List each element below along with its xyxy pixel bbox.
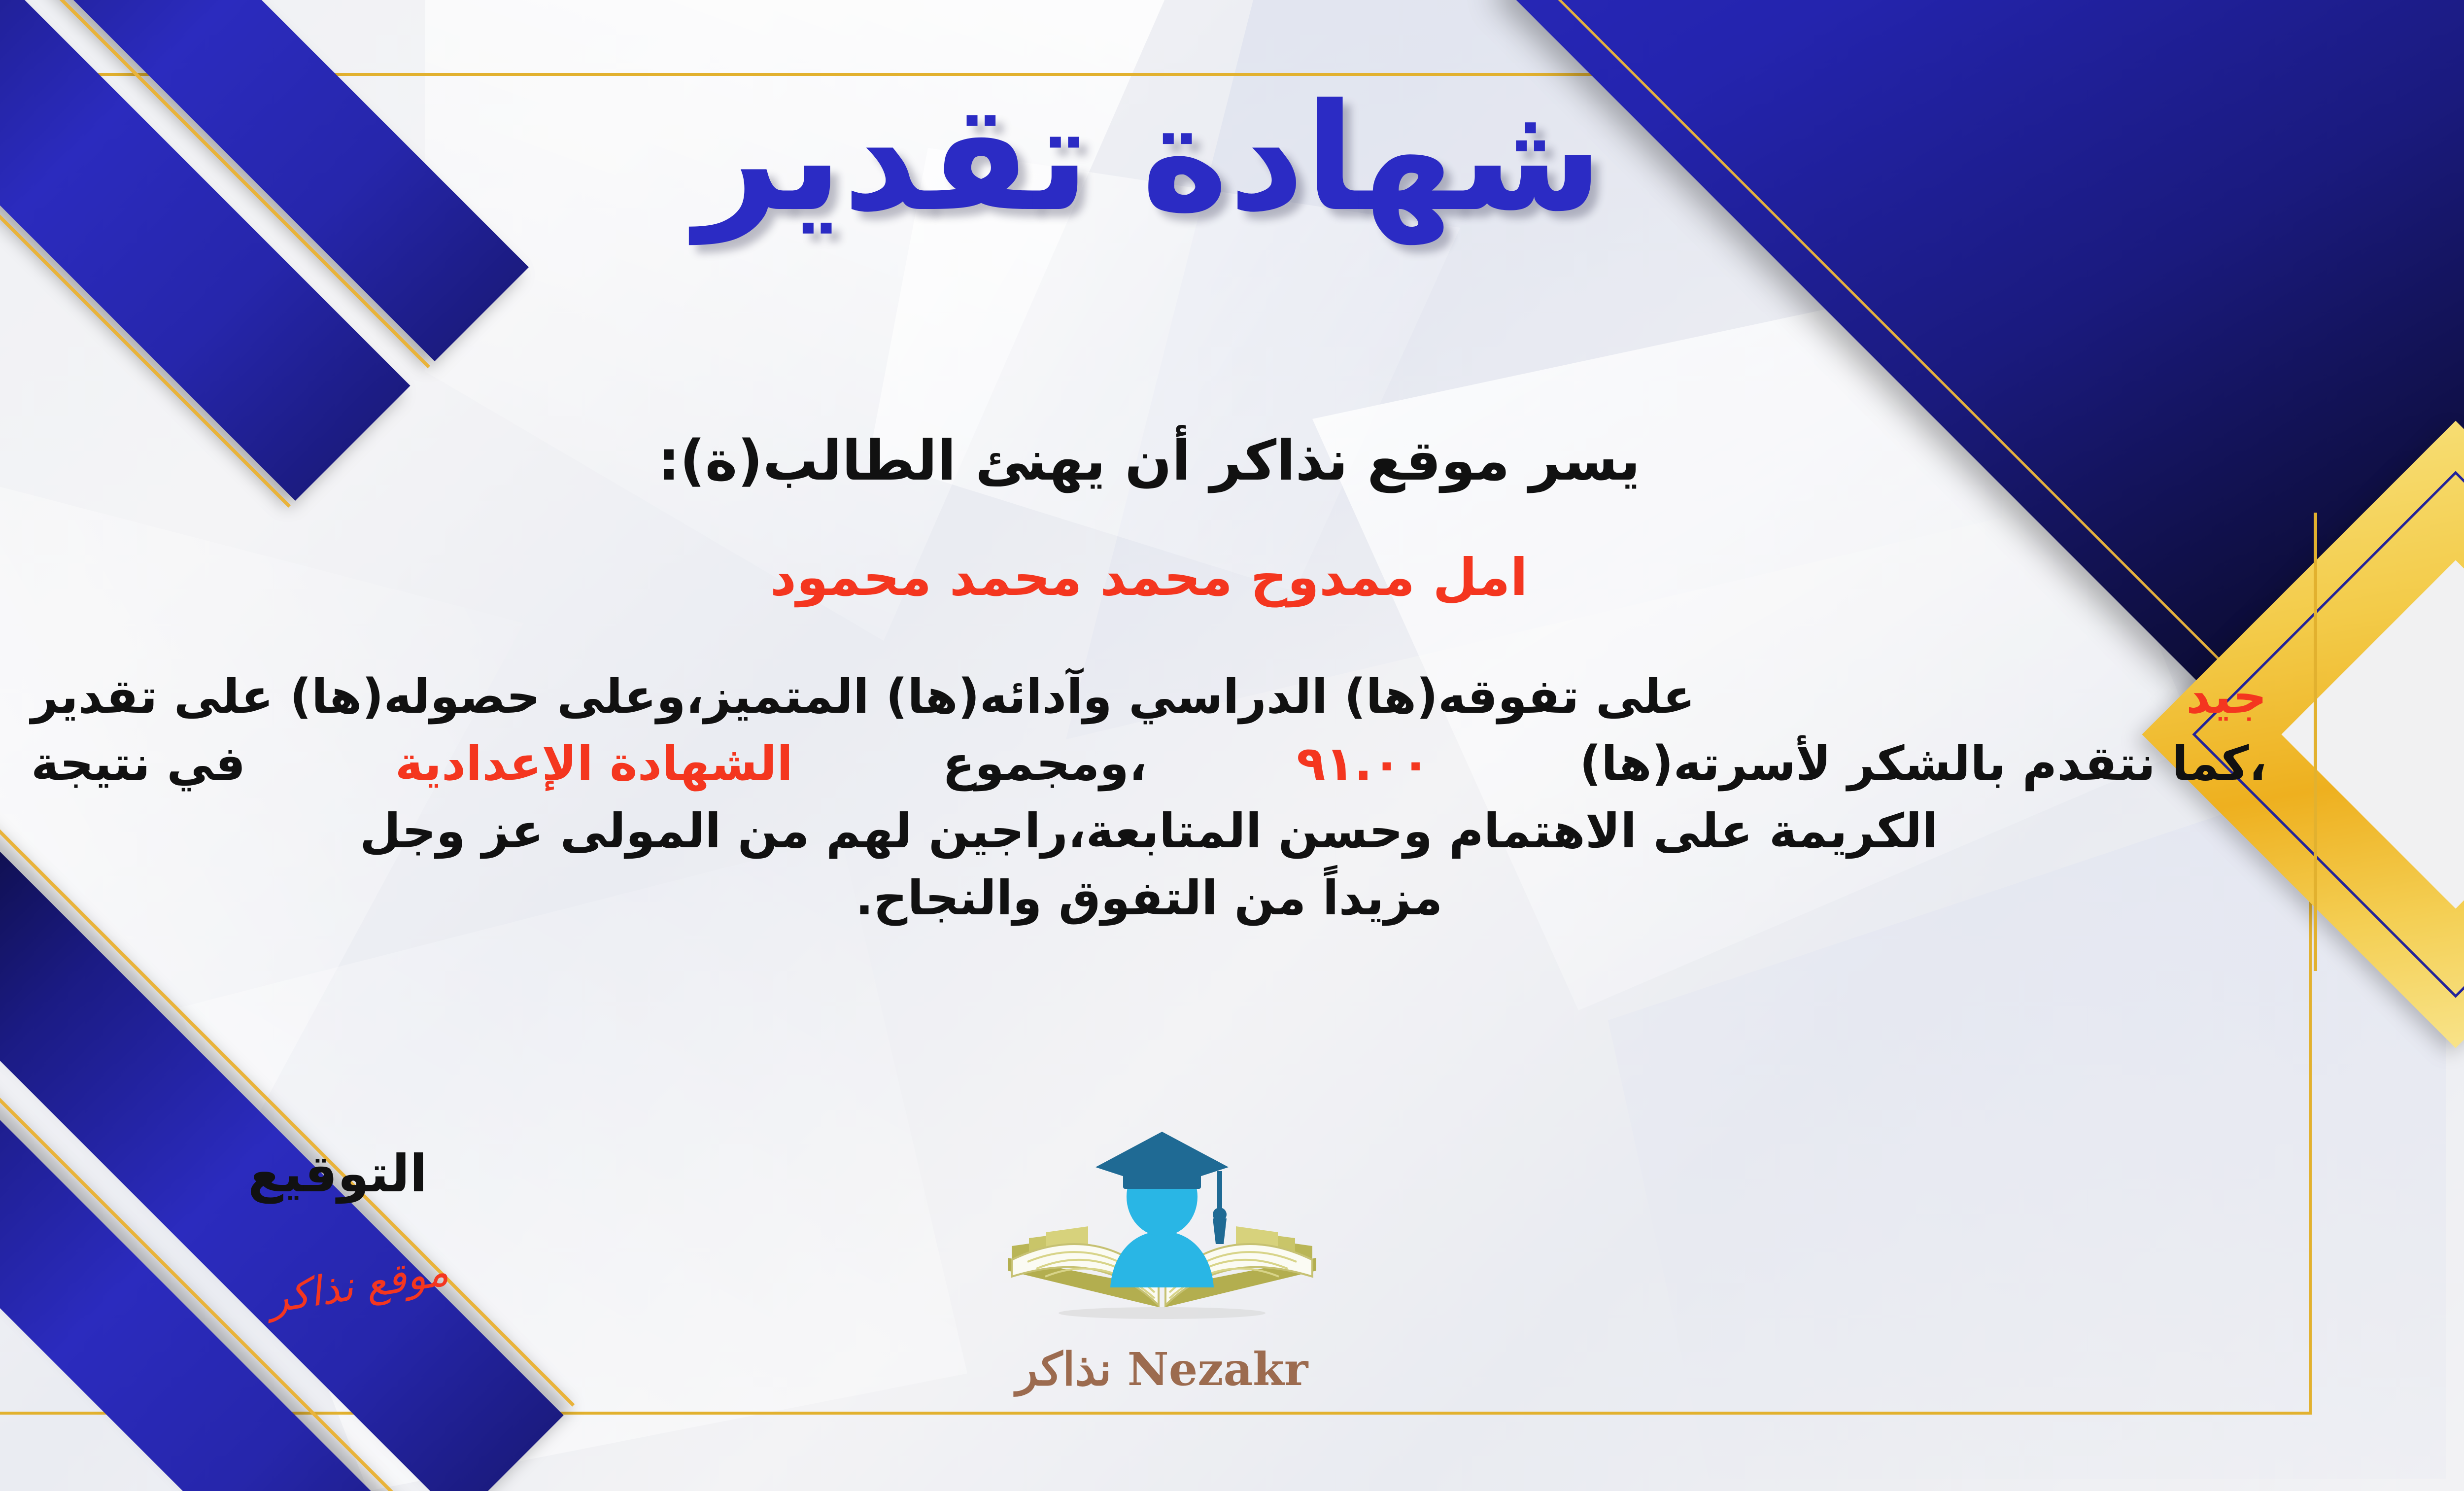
body-line-1-text: على تفوقه(ها) الدراسي وآدائه(ها) المتميز… (31, 663, 1695, 730)
certificate-body: جيد على تفوقه(ها) الدراسي وآدائه(ها) الم… (0, 663, 2356, 932)
student-name: امل ممدوح محمد محمد محمود (0, 547, 2464, 607)
signature-script: موقع نذاكر (265, 1248, 451, 1322)
certificate-title: شهادة تقدير (0, 73, 2464, 243)
body-line-4: مزيداً من التفوق والنجاح. (0, 865, 2356, 932)
body-line-1: جيد على تفوقه(ها) الدراسي وآدائه(ها) الم… (0, 663, 2356, 730)
total-score-value: ٩١.٠٠ (1297, 730, 1430, 797)
body-line-3: الكريمة على الاهتمام وحسن المتابعة،راجين… (0, 798, 2356, 865)
certificate-canvas: شهادة تقدير يسر موقع نذاكر أن يهنئ الطال… (0, 0, 2464, 1491)
graduate-book-icon (982, 1114, 1342, 1346)
body-line-2-mid: ،ومجموع (943, 730, 1147, 797)
logo-wordmark: Nezakr نذاكر (982, 1343, 1342, 1396)
certificate-type-value: الشهادة الإعدادية (395, 730, 793, 797)
body-line-2-head: في نتيجة (31, 730, 245, 797)
nezakr-logo: Nezakr نذاكر (982, 1114, 1342, 1410)
greeting-text: يسر موقع نذاكر أن يهنئ الطالب(ة): (0, 429, 2464, 493)
signature-label: التوقيع (248, 1144, 427, 1204)
certificate-content: شهادة تقدير يسر موقع نذاكر أن يهنئ الطال… (0, 0, 2464, 1491)
grade-value: جيد (2186, 663, 2267, 730)
body-line-2: ،كما نتقدم بالشكر لأسرته(ها) ٩١.٠٠ ،ومجم… (0, 730, 2356, 797)
body-line-2-tail: ،كما نتقدم بالشكر لأسرته(ها) (1579, 730, 2267, 797)
